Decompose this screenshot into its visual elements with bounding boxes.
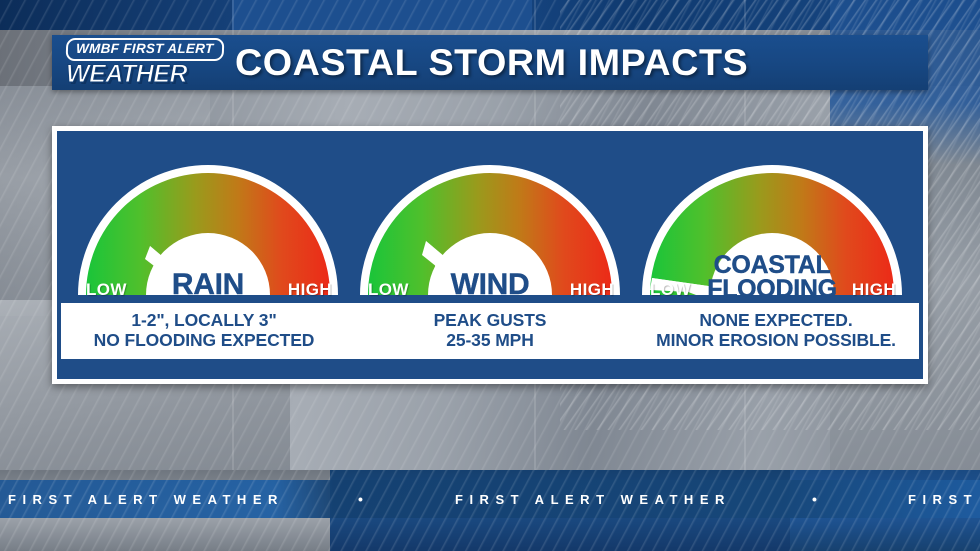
ticker-text-row: FIRST ALERT WEATHER • FIRST ALERT WEATHE… [0,480,980,518]
ticker-separator-dot: • [812,491,823,507]
panel-footer-strip [61,359,919,375]
ticker-text-2: FIRST ALERT WEATHER [455,492,731,507]
caption-rain: 1-2", LOCALLY 3" NO FLOODING EXPECTED [61,311,347,350]
caption-coastal-flooding: NONE EXPECTED. MINOR EROSION POSSIBLE. [633,311,919,350]
gauge-rain-title: RAIN [72,271,344,300]
logo-top-text: WMBF FIRST ALERT [66,38,224,61]
caption-coastal-flooding-line2: MINOR EROSION POSSIBLE. [633,331,919,351]
ticker-separator-dot: • [358,491,369,507]
logo-bottom-text: WEATHER [66,62,187,87]
impacts-panel-inner: LOW HIGH RAIN [57,131,923,379]
gauge-title-line2: FLOODING [707,275,837,303]
ticker-text-3: FIRST [908,492,978,507]
gauge-column-wind: LOW HIGH WIND [349,153,631,303]
caption-wind: PEAK GUSTS 25-35 MPH [347,311,633,350]
gauge-coastal-flooding: LOW HIGH COASTAL FLOODING [636,153,908,303]
wmbf-first-alert-weather-logo: WMBF FIRST ALERT WEATHER [66,38,224,87]
ticker-text-1: FIRST ALERT WEATHER [8,492,284,507]
title-bar: WMBF FIRST ALERT WEATHER COASTAL STORM I… [52,35,928,90]
caption-rain-line2: NO FLOODING EXPECTED [61,331,347,351]
gauge-rain: LOW HIGH RAIN [72,153,344,303]
caption-coastal-flooding-line1: NONE EXPECTED. [699,310,852,330]
caption-band: 1-2", LOCALLY 3" NO FLOODING EXPECTED PE… [61,303,919,359]
caption-wind-line2: 25-35 MPH [347,331,633,351]
caption-rain-line1: 1-2", LOCALLY 3" [131,310,276,330]
caption-wind-line1: PEAK GUSTS [434,310,547,330]
gauge-wind: LOW HIGH WIND [354,153,626,303]
page-title: COASTAL STORM IMPACTS [235,42,748,84]
impacts-panel: LOW HIGH RAIN [52,126,928,384]
gauge-column-rain: LOW HIGH RAIN [67,153,349,303]
gauge-column-coastal-flooding: LOW HIGH COASTAL FLOODING [631,153,913,303]
gauge-coastal-flooding-title: COASTAL FLOODING [636,253,908,301]
gauge-wind-title: WIND [354,271,626,300]
bottom-ticker: FIRST ALERT WEATHER • FIRST ALERT WEATHE… [0,470,980,551]
gauge-row: LOW HIGH RAIN [61,135,919,303]
